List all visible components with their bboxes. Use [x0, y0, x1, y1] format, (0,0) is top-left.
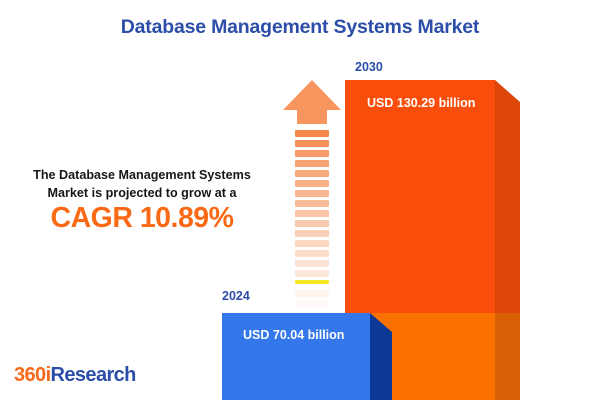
- page-title: Database Management Systems Market: [0, 16, 600, 39]
- callout-line-1: The Database Management Systems: [8, 166, 276, 184]
- bar-2030-front-face: [345, 80, 495, 313]
- brand-logo: 360iResearch: [14, 364, 136, 387]
- arrow-stripe: [295, 250, 329, 257]
- bar-2030-side-face-lower: [495, 313, 520, 400]
- growth-callout-text: The Database Management Systems Market i…: [8, 166, 276, 202]
- bar-2024-year-label: 2024: [222, 289, 250, 303]
- arrow-stripe: [295, 160, 329, 167]
- arrow-stripe: [295, 190, 329, 197]
- arrow-stripe: [295, 130, 329, 137]
- arrow-stripe: [295, 270, 329, 277]
- arrow-stripe: [295, 220, 329, 227]
- cagr-value: CAGR 10.89%: [8, 202, 276, 235]
- brand-logo-part-a: 360i: [14, 364, 51, 386]
- bar-2030-value-label: USD 130.29 billion: [367, 96, 475, 110]
- callout-line-2: Market is projected to grow at a: [8, 184, 276, 202]
- up-arrow-icon: [283, 80, 341, 312]
- arrow-stripe: [295, 240, 329, 247]
- arrow-stripe: [295, 150, 329, 157]
- arrow-stripe: [295, 180, 329, 187]
- arrow-stripe: [295, 280, 329, 284]
- arrow-head: [283, 80, 341, 110]
- arrow-stripe: [295, 230, 329, 237]
- arrow-stripe: [295, 170, 329, 177]
- bar-2024-front-face: [222, 313, 370, 400]
- bar-2030-year-label: 2030: [355, 60, 383, 74]
- arrow-stripe: [295, 140, 329, 147]
- arrow-stripe: [295, 300, 329, 307]
- bar-2024-value-label: USD 70.04 billion: [243, 328, 344, 342]
- arrow-stripe: [295, 200, 329, 207]
- arrow-stripe: [295, 290, 329, 297]
- arrow-neck: [297, 110, 327, 124]
- arrow-stripe: [295, 260, 329, 267]
- brand-logo-part-b: Research: [51, 364, 136, 386]
- arrow-stripe: [295, 210, 329, 217]
- infographic-canvas: Database Management Systems Market The D…: [0, 0, 600, 400]
